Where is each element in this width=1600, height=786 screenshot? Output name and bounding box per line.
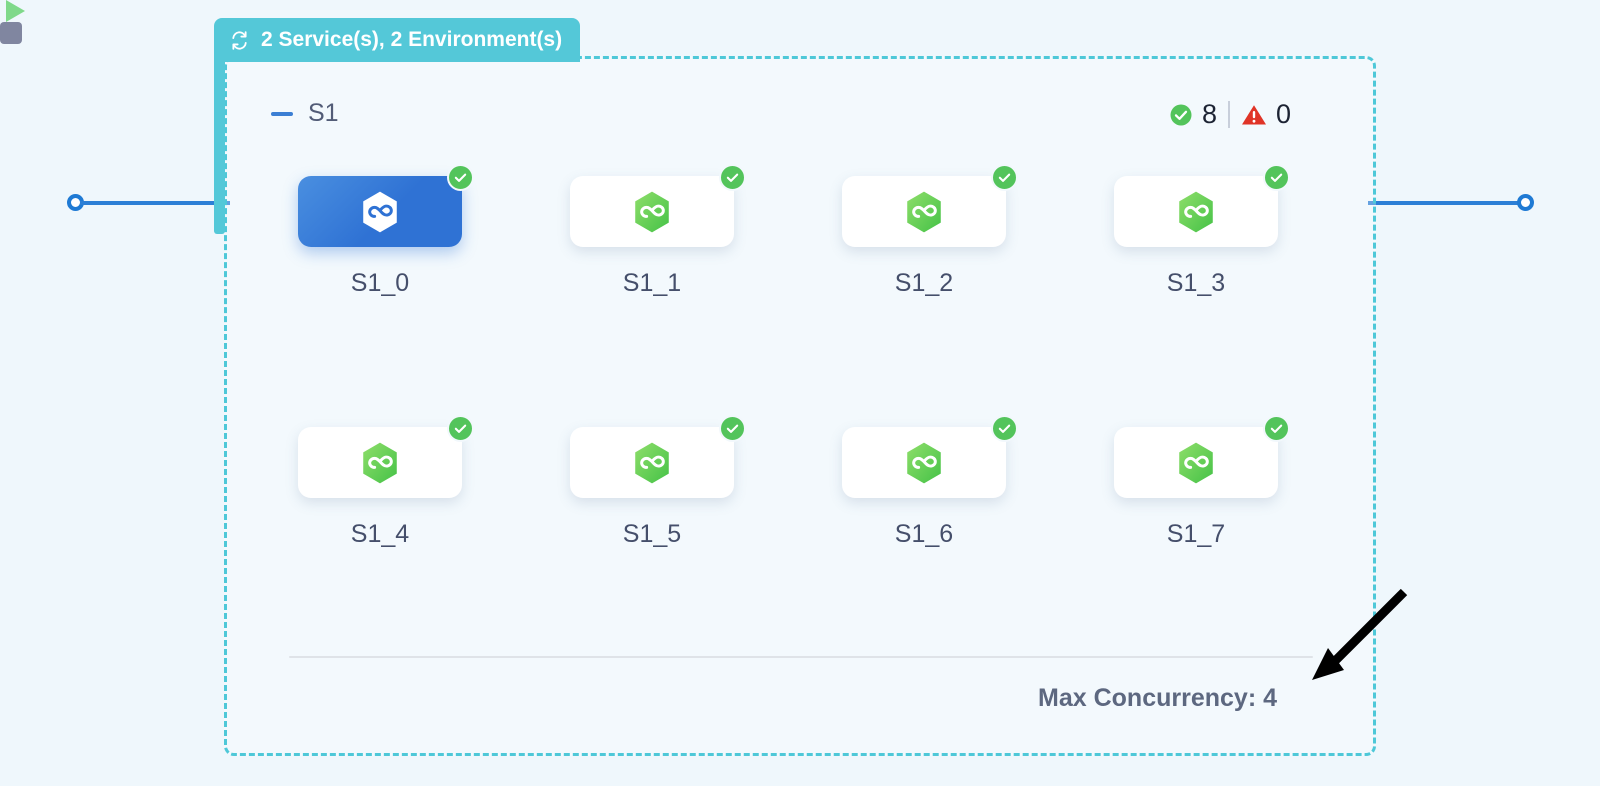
- check-badge-icon: [447, 415, 474, 442]
- check-badge-icon: [1263, 415, 1290, 442]
- node-card[interactable]: [570, 176, 734, 247]
- loop-refresh-icon: [228, 29, 251, 52]
- warning-triangle-icon: [1241, 103, 1267, 127]
- success-status: 8: [1169, 99, 1217, 130]
- node-label: S1_4: [298, 520, 462, 549]
- edge-loop-to-end: [1368, 201, 1520, 205]
- hexagon-infinity-icon: [1173, 440, 1219, 486]
- node-card[interactable]: [570, 427, 734, 498]
- node-s1_7[interactable]: S1_7: [1114, 427, 1278, 498]
- workflow-canvas: 2 Service(s), 2 Environment(s) S1 8: [0, 0, 1600, 786]
- node-s1_3[interactable]: S1_3: [1114, 176, 1278, 247]
- node-label: S1_2: [842, 269, 1006, 298]
- hexagon-infinity-icon: [901, 189, 947, 235]
- error-status: 0: [1241, 99, 1291, 130]
- check-circle-icon: [1169, 103, 1193, 127]
- node-card[interactable]: [842, 427, 1006, 498]
- node-label: S1_6: [842, 520, 1006, 549]
- node-label: S1_1: [570, 269, 734, 298]
- footer-divider: [289, 656, 1313, 658]
- hexagon-infinity-icon: [629, 189, 675, 235]
- play-icon: [6, 0, 25, 22]
- max-concurrency-label: Max Concurrency: 4: [1038, 684, 1277, 713]
- check-badge-icon: [1263, 164, 1290, 191]
- node-s1_0[interactable]: S1_0: [298, 176, 462, 247]
- success-count: 8: [1202, 99, 1217, 130]
- status-divider: [1228, 101, 1230, 128]
- node-card[interactable]: [1114, 176, 1278, 247]
- node-s1_1[interactable]: S1_1: [570, 176, 734, 247]
- loop-header-label: 2 Service(s), 2 Environment(s): [261, 28, 562, 52]
- hexagon-infinity-icon: [629, 440, 675, 486]
- node-card[interactable]: [1114, 427, 1278, 498]
- loop-group-container[interactable]: S1 8 0: [224, 56, 1376, 756]
- error-count: 0: [1276, 99, 1291, 130]
- node-s1_5[interactable]: S1_5: [570, 427, 734, 498]
- node-card[interactable]: [298, 427, 462, 498]
- check-badge-icon: [719, 164, 746, 191]
- loop-left-spine: [214, 56, 225, 234]
- node-s1_4[interactable]: S1_4: [298, 427, 462, 498]
- service-group-name: S1: [308, 99, 339, 128]
- end-input-port[interactable]: [1517, 194, 1534, 211]
- node-label: S1_0: [298, 269, 462, 298]
- minus-icon[interactable]: [271, 112, 293, 116]
- check-badge-icon: [991, 415, 1018, 442]
- node-label: S1_7: [1114, 520, 1278, 549]
- hexagon-infinity-icon: [901, 440, 947, 486]
- status-counts: 8 0: [1169, 99, 1291, 130]
- loop-header[interactable]: 2 Service(s), 2 Environment(s): [214, 18, 580, 62]
- hexagon-infinity-icon: [357, 189, 403, 235]
- stop-icon: [0, 22, 22, 44]
- check-badge-icon: [719, 415, 746, 442]
- hexagon-infinity-icon: [357, 440, 403, 486]
- node-s1_6[interactable]: S1_6: [842, 427, 1006, 498]
- node-card[interactable]: [298, 176, 462, 247]
- check-badge-icon: [991, 164, 1018, 191]
- hexagon-infinity-icon: [1173, 189, 1219, 235]
- node-label: S1_5: [570, 520, 734, 549]
- service-group-header[interactable]: S1: [271, 99, 339, 128]
- check-badge-icon: [447, 164, 474, 191]
- node-label: S1_3: [1114, 269, 1278, 298]
- node-s1_2[interactable]: S1_2: [842, 176, 1006, 247]
- edge-start-to-loop: [80, 201, 230, 205]
- node-card[interactable]: [842, 176, 1006, 247]
